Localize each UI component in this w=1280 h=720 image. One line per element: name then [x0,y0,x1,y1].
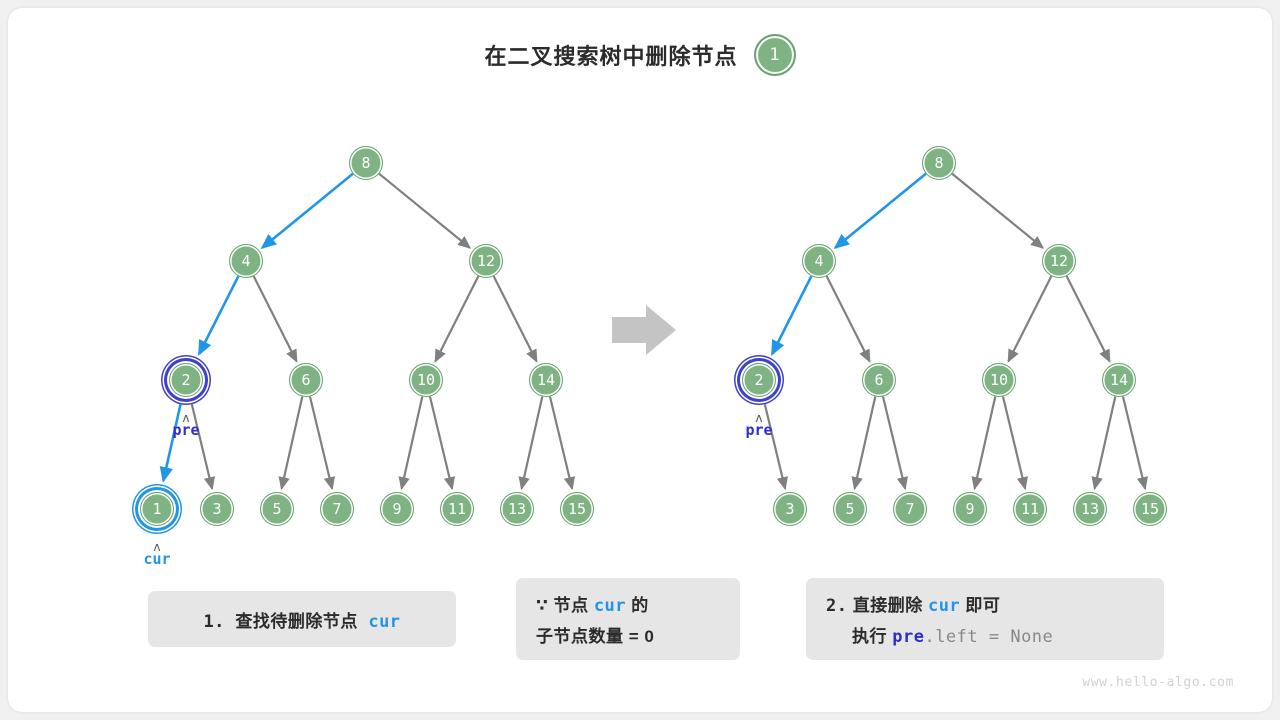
caption-reason-line2: 子节点数量 = 0 [536,622,654,647]
caption-step-2-var-cur: cur [928,596,960,616]
caption-step-2-code: .left = None [924,627,1053,647]
caption-step-1-number: 1. [203,612,224,632]
tree-edge [1008,276,1051,361]
tree-node-14: 14 [529,363,563,397]
tree-edge [1003,397,1025,489]
tree-edge [952,174,1043,248]
tree-edge [1123,397,1145,489]
caption-step-2: 2. 直接删除 cur 即可 执行 pre.left = None [806,578,1164,660]
tree-edge [435,276,478,361]
tree-edge [550,397,572,489]
pointer-label-text: cur [143,552,170,568]
tree-node-6: 6 [862,363,896,397]
tree-node-12: 12 [469,244,503,278]
caption-step-2-var-pre: pre [892,627,924,647]
tree-node-7: 7 [893,492,927,526]
tree-edge [1067,276,1110,361]
tree-edge [310,397,332,489]
tree-edge [254,276,297,361]
caption-step-2-number: 2. [826,596,847,616]
caption-step-1-var: cur [368,612,400,632]
diagram-card: 在二叉搜索树中删除节点 1 84122610141357911131584122… [8,8,1272,712]
tree-node-2: 2 [169,363,203,397]
caption-reason-text-b: 的 [631,591,649,616]
tree-edge [494,276,537,361]
tree-node-8: 8 [922,146,956,180]
tree-node-3: 3 [200,492,234,526]
caption-step-2-exec-label: 执行 [852,622,887,647]
tree-node-11: 11 [440,492,474,526]
tree-edge [835,174,926,248]
tree-node-11: 11 [1013,492,1047,526]
tree-node-5: 5 [260,492,294,526]
tree-node-15: 15 [1133,492,1167,526]
tree-node-3: 3 [773,492,807,526]
tree-node-9: 9 [953,492,987,526]
tree-edge [262,174,353,248]
pointer-label-text: pre [745,423,772,439]
caption-step-1: 1. 查找待删除节点 cur [148,591,456,647]
tree-node-12: 12 [1042,244,1076,278]
transition-arrow-icon [612,305,676,355]
tree-node-14: 14 [1102,363,1136,397]
tree-edge [855,397,876,489]
tree-node-13: 13 [1073,492,1107,526]
tree-node-8: 8 [349,146,383,180]
caption-reason-var: cur [594,596,626,616]
caption-step-1-text: 查找待删除节点 [235,607,358,632]
tree-edge [282,397,303,489]
tree-node-10: 10 [409,363,443,397]
tree-node-4: 4 [229,244,263,278]
tree-node-6: 6 [289,363,323,397]
tree-edge [522,397,543,489]
site-watermark: www.hello-algo.com [1082,675,1234,690]
tree-node-4: 4 [802,244,836,278]
tree-edge [975,397,996,489]
caption-reason-text-a: 节点 [554,591,589,616]
tree-node-7: 7 [320,492,354,526]
tree-node-2: 2 [742,363,776,397]
caption-step-2-text-a: 直接删除 [853,591,923,616]
tree-node-9: 9 [380,492,414,526]
caption-step-2-text-b: 即可 [965,591,1000,616]
tree-node-15: 15 [560,492,594,526]
pointer-label-text: pre [172,423,199,439]
tree-edge [883,397,905,489]
pointer-label-pre: ʌpre [156,412,216,439]
pointer-label-cur: ʌcur [127,541,187,568]
tree-node-13: 13 [500,492,534,526]
caption-reason: ∵ 节点 cur 的 子节点数量 = 0 [516,578,740,660]
caption-reason-symbol: ∵ [536,596,548,616]
tree-edge [1095,397,1116,489]
tree-edge [772,276,811,354]
screenshot-canvas: 在二叉搜索树中删除节点 1 84122610141357911131584122… [0,0,1280,720]
pointer-label-pre: ʌpre [729,412,789,439]
tree-edge [199,276,238,354]
tree-edge [379,174,470,248]
tree-edge [402,397,423,489]
tree-node-5: 5 [833,492,867,526]
tree-node-1: 1 [140,492,174,526]
tree-node-10: 10 [982,363,1016,397]
tree-edge [430,397,452,489]
tree-edge [827,276,870,361]
